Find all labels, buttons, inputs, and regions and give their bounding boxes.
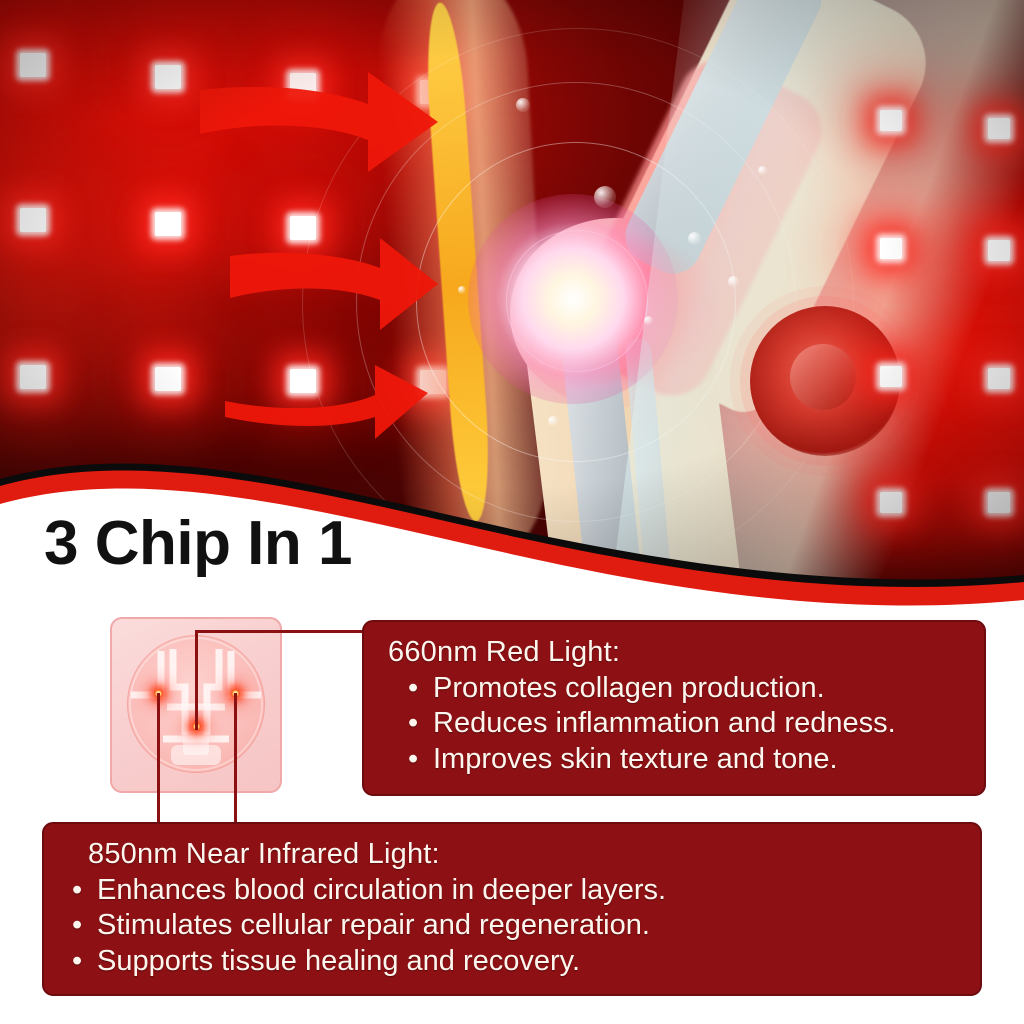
bullet-icon: • bbox=[408, 671, 420, 706]
list-item: • Supports tissue healing and recovery. bbox=[72, 944, 958, 979]
list-item-text: Supports tissue healing and recovery. bbox=[97, 944, 580, 979]
bullet-icon: • bbox=[408, 742, 420, 777]
list-item-text: Improves skin texture and tone. bbox=[433, 742, 838, 777]
info-box-heading: 660nm Red Light: bbox=[388, 636, 962, 669]
connector-line-850-right bbox=[234, 693, 237, 824]
infographic-page: 3 Chip In 1 bbox=[0, 0, 1024, 1024]
connector-line-660-horizontal bbox=[195, 630, 365, 633]
info-box-bullet-list: • Promotes collagen production. • Reduce… bbox=[386, 671, 962, 777]
list-item-text: Stimulates cellular repair and regenerat… bbox=[97, 908, 650, 943]
info-box-heading: 850nm Near Infrared Light: bbox=[88, 838, 958, 871]
info-box-bullet-list: • Enhances blood circulation in deeper l… bbox=[66, 873, 958, 979]
page-title: 3 Chip In 1 bbox=[44, 508, 352, 579]
bullet-icon: • bbox=[72, 873, 84, 908]
bullet-icon: • bbox=[72, 944, 84, 979]
list-item-text: Enhances blood circulation in deeper lay… bbox=[97, 873, 666, 908]
list-item: • Enhances blood circulation in deeper l… bbox=[72, 873, 958, 908]
bullet-icon: • bbox=[72, 908, 84, 943]
connector-line-660-vertical bbox=[195, 630, 198, 730]
list-item: • Improves skin texture and tone. bbox=[408, 742, 962, 777]
info-box-red-light: 660nm Red Light: • Promotes collagen pro… bbox=[362, 620, 986, 796]
list-item: • Reduces inflammation and redness. bbox=[408, 706, 962, 741]
list-item-text: Reduces inflammation and redness. bbox=[433, 706, 896, 741]
bullet-icon: • bbox=[408, 706, 420, 741]
connector-line-850-left bbox=[157, 693, 160, 824]
list-item: • Stimulates cellular repair and regener… bbox=[72, 908, 958, 943]
list-item: • Promotes collagen production. bbox=[408, 671, 962, 706]
info-box-near-infrared: 850nm Near Infrared Light: • Enhances bl… bbox=[42, 822, 982, 996]
list-item-text: Promotes collagen production. bbox=[433, 671, 825, 706]
